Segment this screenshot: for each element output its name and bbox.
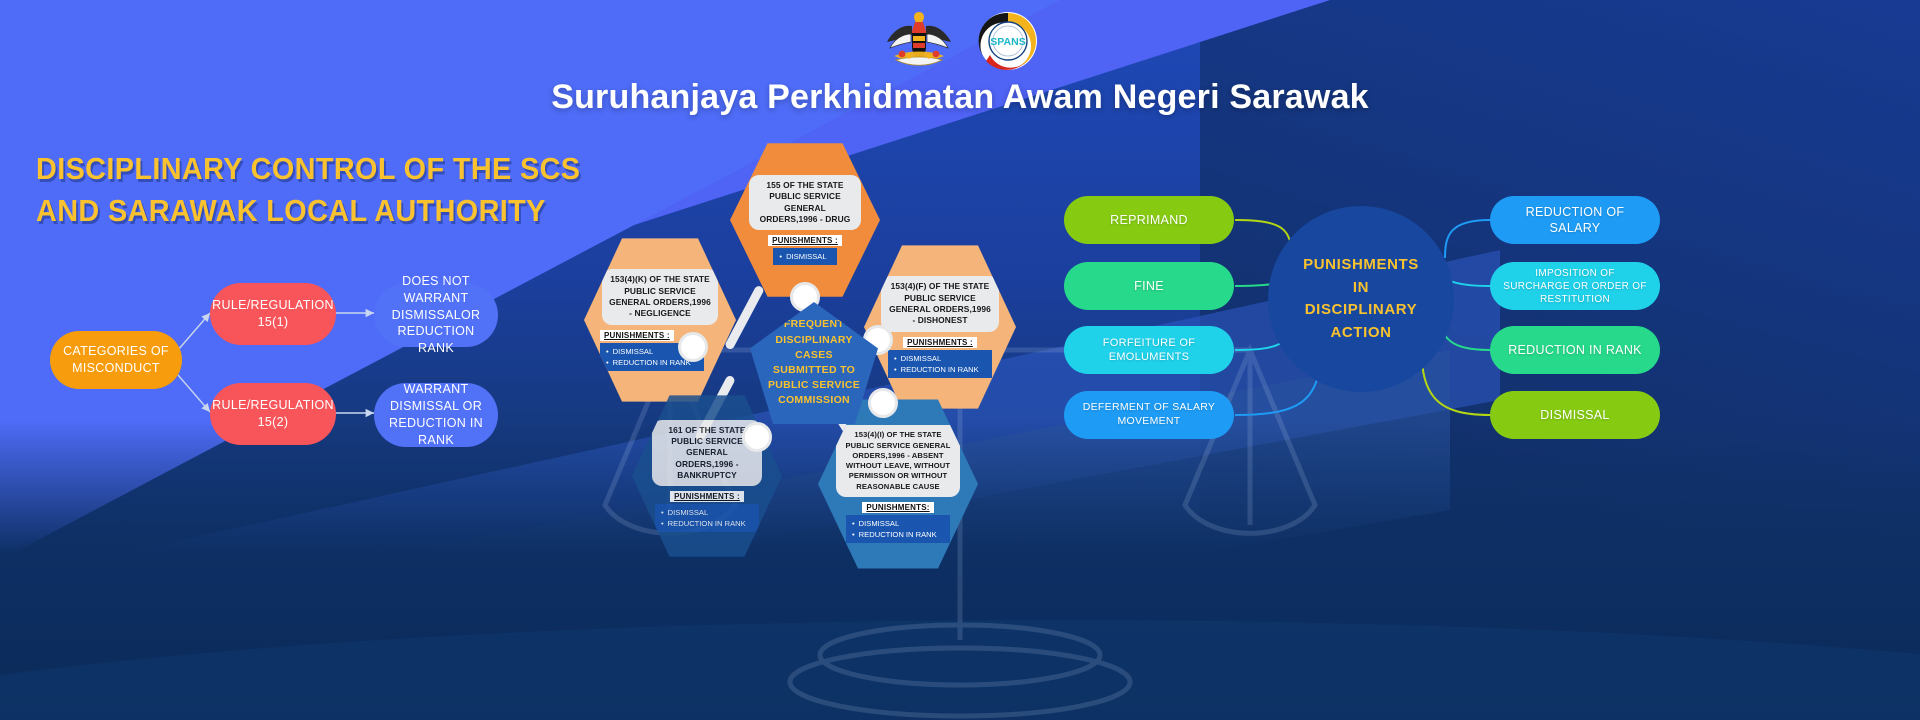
misconduct-flowchart: CATEGORIES OF MISCONDUCT RULE/REGULATION… bbox=[0, 0, 640, 720]
hex-connector-dot-bankruptcy bbox=[742, 422, 772, 452]
flow-node-outcome-15-1[interactable]: DOES NOT WARRANT DISMISSALOR REDUCTION R… bbox=[374, 283, 498, 347]
sarawak-coat-of-arms-icon bbox=[882, 4, 956, 78]
hex-title: 155 OF THE STATE PUBLIC SERVICE GENERAL … bbox=[749, 175, 861, 230]
hex-center-label: FREQUENT DISCIPLINARY CASES SUBMITTED TO… bbox=[762, 317, 866, 408]
punishment-pill-reduction-in-rank[interactable]: REDUCTION IN RANK bbox=[1490, 326, 1660, 374]
hex-node-drug[interactable]: 155 OF THE STATE PUBLIC SERVICE GENERAL … bbox=[730, 140, 880, 300]
hex-connector-dot-awol bbox=[868, 388, 898, 418]
flow-node-outcome-15-2[interactable]: WARRANT DISMISSAL OR REDUCTION IN RANK bbox=[374, 383, 498, 447]
punishments-center-line-4: ACTION bbox=[1303, 322, 1419, 345]
punishment-pill-deferment-of-salary-movement[interactable]: DEFERMENT OF SALARY MOVEMENT bbox=[1064, 391, 1234, 439]
spans-logo-icon: SPANS bbox=[978, 11, 1038, 71]
punishments-label: PUNISHMENTS: bbox=[862, 502, 933, 513]
punishment-item: DISMISSAL bbox=[852, 518, 940, 529]
punishments-list: DISMISSAL REDUCTION IN RANK bbox=[888, 350, 992, 378]
punishments-label: PUNISHMENTS : bbox=[768, 235, 842, 246]
punishments-center-circle: PUNISHMENTS IN DISCIPLINARY ACTION bbox=[1268, 206, 1454, 392]
punishment-pill-label: FORFEITURE OF EMOLUMENTS bbox=[1076, 336, 1222, 365]
punishment-pill-label: FINE bbox=[1134, 278, 1164, 294]
flow-node-rule-15-1[interactable]: RULE/REGULATION 15(1) bbox=[210, 283, 336, 345]
hex-node-negligence[interactable]: 153(4)(K) OF THE STATE PUBLIC SERVICE GE… bbox=[584, 235, 736, 405]
punishment-pill-fine[interactable]: FINE bbox=[1064, 262, 1234, 310]
hex-node-bankruptcy[interactable]: 161 OF THE STATE PUBLIC SERVICE GENERAL … bbox=[632, 392, 782, 560]
logo-group: SPANS bbox=[882, 4, 1038, 78]
flow-node-label: RULE/REGULATION 15(1) bbox=[212, 297, 334, 331]
punishments-center-line-2: IN bbox=[1303, 277, 1419, 300]
punishment-item: DISMISSAL bbox=[894, 353, 982, 364]
hex-title: 153(4)(I) OF THE STATE PUBLIC SERVICE GE… bbox=[836, 425, 960, 497]
punishment-item: REDUCTION IN RANK bbox=[852, 529, 940, 540]
punishments-label: PUNISHMENTS : bbox=[903, 337, 977, 348]
hex-connector-dot-negligence bbox=[678, 332, 708, 362]
punishment-item: REDUCTION IN RANK bbox=[661, 518, 749, 529]
punishment-pill-label: REDUCTION OF SALARY bbox=[1502, 204, 1648, 237]
punishment-pill-dismissal[interactable]: DISMISSAL bbox=[1490, 391, 1660, 439]
flow-node-categories-of-misconduct[interactable]: CATEGORIES OF MISCONDUCT bbox=[50, 331, 182, 389]
frequent-cases-hex-cluster: 155 OF THE STATE PUBLIC SERVICE GENERAL … bbox=[560, 140, 1040, 560]
punishment-pill-imposition-of-surcharge[interactable]: IMPOSITION OF SURCHARGE OR ORDER OF REST… bbox=[1490, 262, 1660, 310]
punishment-item: DISMISSAL bbox=[661, 507, 749, 518]
punishments-label: PUNISHMENTS : bbox=[670, 491, 744, 502]
punishment-pill-label: REPRIMAND bbox=[1110, 212, 1188, 228]
flow-node-label: DOES NOT WARRANT DISMISSALOR REDUCTION R… bbox=[384, 273, 488, 357]
punishment-item: REDUCTION IN RANK bbox=[894, 364, 982, 375]
spans-wordmark: SPANS bbox=[990, 36, 1025, 48]
punishments-in-disciplinary-action-panel: REPRIMAND FINE FORFEITURE OF EMOLUMENTS … bbox=[1040, 180, 1920, 480]
hex-title: 153(4)(K) OF THE STATE PUBLIC SERVICE GE… bbox=[602, 269, 718, 324]
punishments-list: DISMISSAL REDUCTION IN RANK bbox=[846, 515, 950, 543]
punishments-center-line-3: DISCIPLINARY bbox=[1303, 299, 1419, 322]
punishments-center-line-1: PUNISHMENTS bbox=[1303, 254, 1419, 277]
punishment-pill-reprimand[interactable]: REPRIMAND bbox=[1064, 196, 1234, 244]
flow-node-label: WARRANT DISMISSAL OR REDUCTION IN RANK bbox=[384, 381, 488, 449]
punishment-pill-label: REDUCTION IN RANK bbox=[1508, 342, 1642, 358]
hex-title: 153(4)(F) OF THE STATE PUBLIC SERVICE GE… bbox=[881, 276, 999, 331]
flow-node-label: CATEGORIES OF MISCONDUCT bbox=[60, 343, 172, 377]
punishments-label: PUNISHMENTS : bbox=[600, 330, 674, 341]
flow-node-rule-15-2[interactable]: RULE/REGULATION 15(2) bbox=[210, 383, 336, 445]
punishment-pill-label: IMPOSITION OF SURCHARGE OR ORDER OF REST… bbox=[1502, 267, 1648, 306]
punishments-list: DISMISSAL bbox=[773, 248, 836, 265]
punishments-list: DISMISSAL REDUCTION IN RANK bbox=[655, 504, 759, 532]
punishment-pill-label: DEFERMENT OF SALARY MOVEMENT bbox=[1076, 401, 1222, 428]
hex-center-node[interactable]: FREQUENT DISCIPLINARY CASES SUBMITTED TO… bbox=[750, 302, 878, 424]
flow-node-label: RULE/REGULATION 15(2) bbox=[212, 397, 334, 431]
infographic-canvas: SPANS Suruhanjaya Perkhidmatan Awam Nege… bbox=[0, 0, 1920, 720]
punishments-center-label: PUNISHMENTS IN DISCIPLINARY ACTION bbox=[1303, 254, 1419, 344]
punishment-item: DISMISSAL bbox=[779, 251, 826, 262]
punishment-pill-reduction-of-salary[interactable]: REDUCTION OF SALARY bbox=[1490, 196, 1660, 244]
punishment-pill-forfeiture-of-emoluments[interactable]: FORFEITURE OF EMOLUMENTS bbox=[1064, 326, 1234, 374]
punishment-item: REDUCTION IN RANK bbox=[606, 357, 694, 368]
punishment-pill-label: DISMISSAL bbox=[1540, 407, 1609, 423]
